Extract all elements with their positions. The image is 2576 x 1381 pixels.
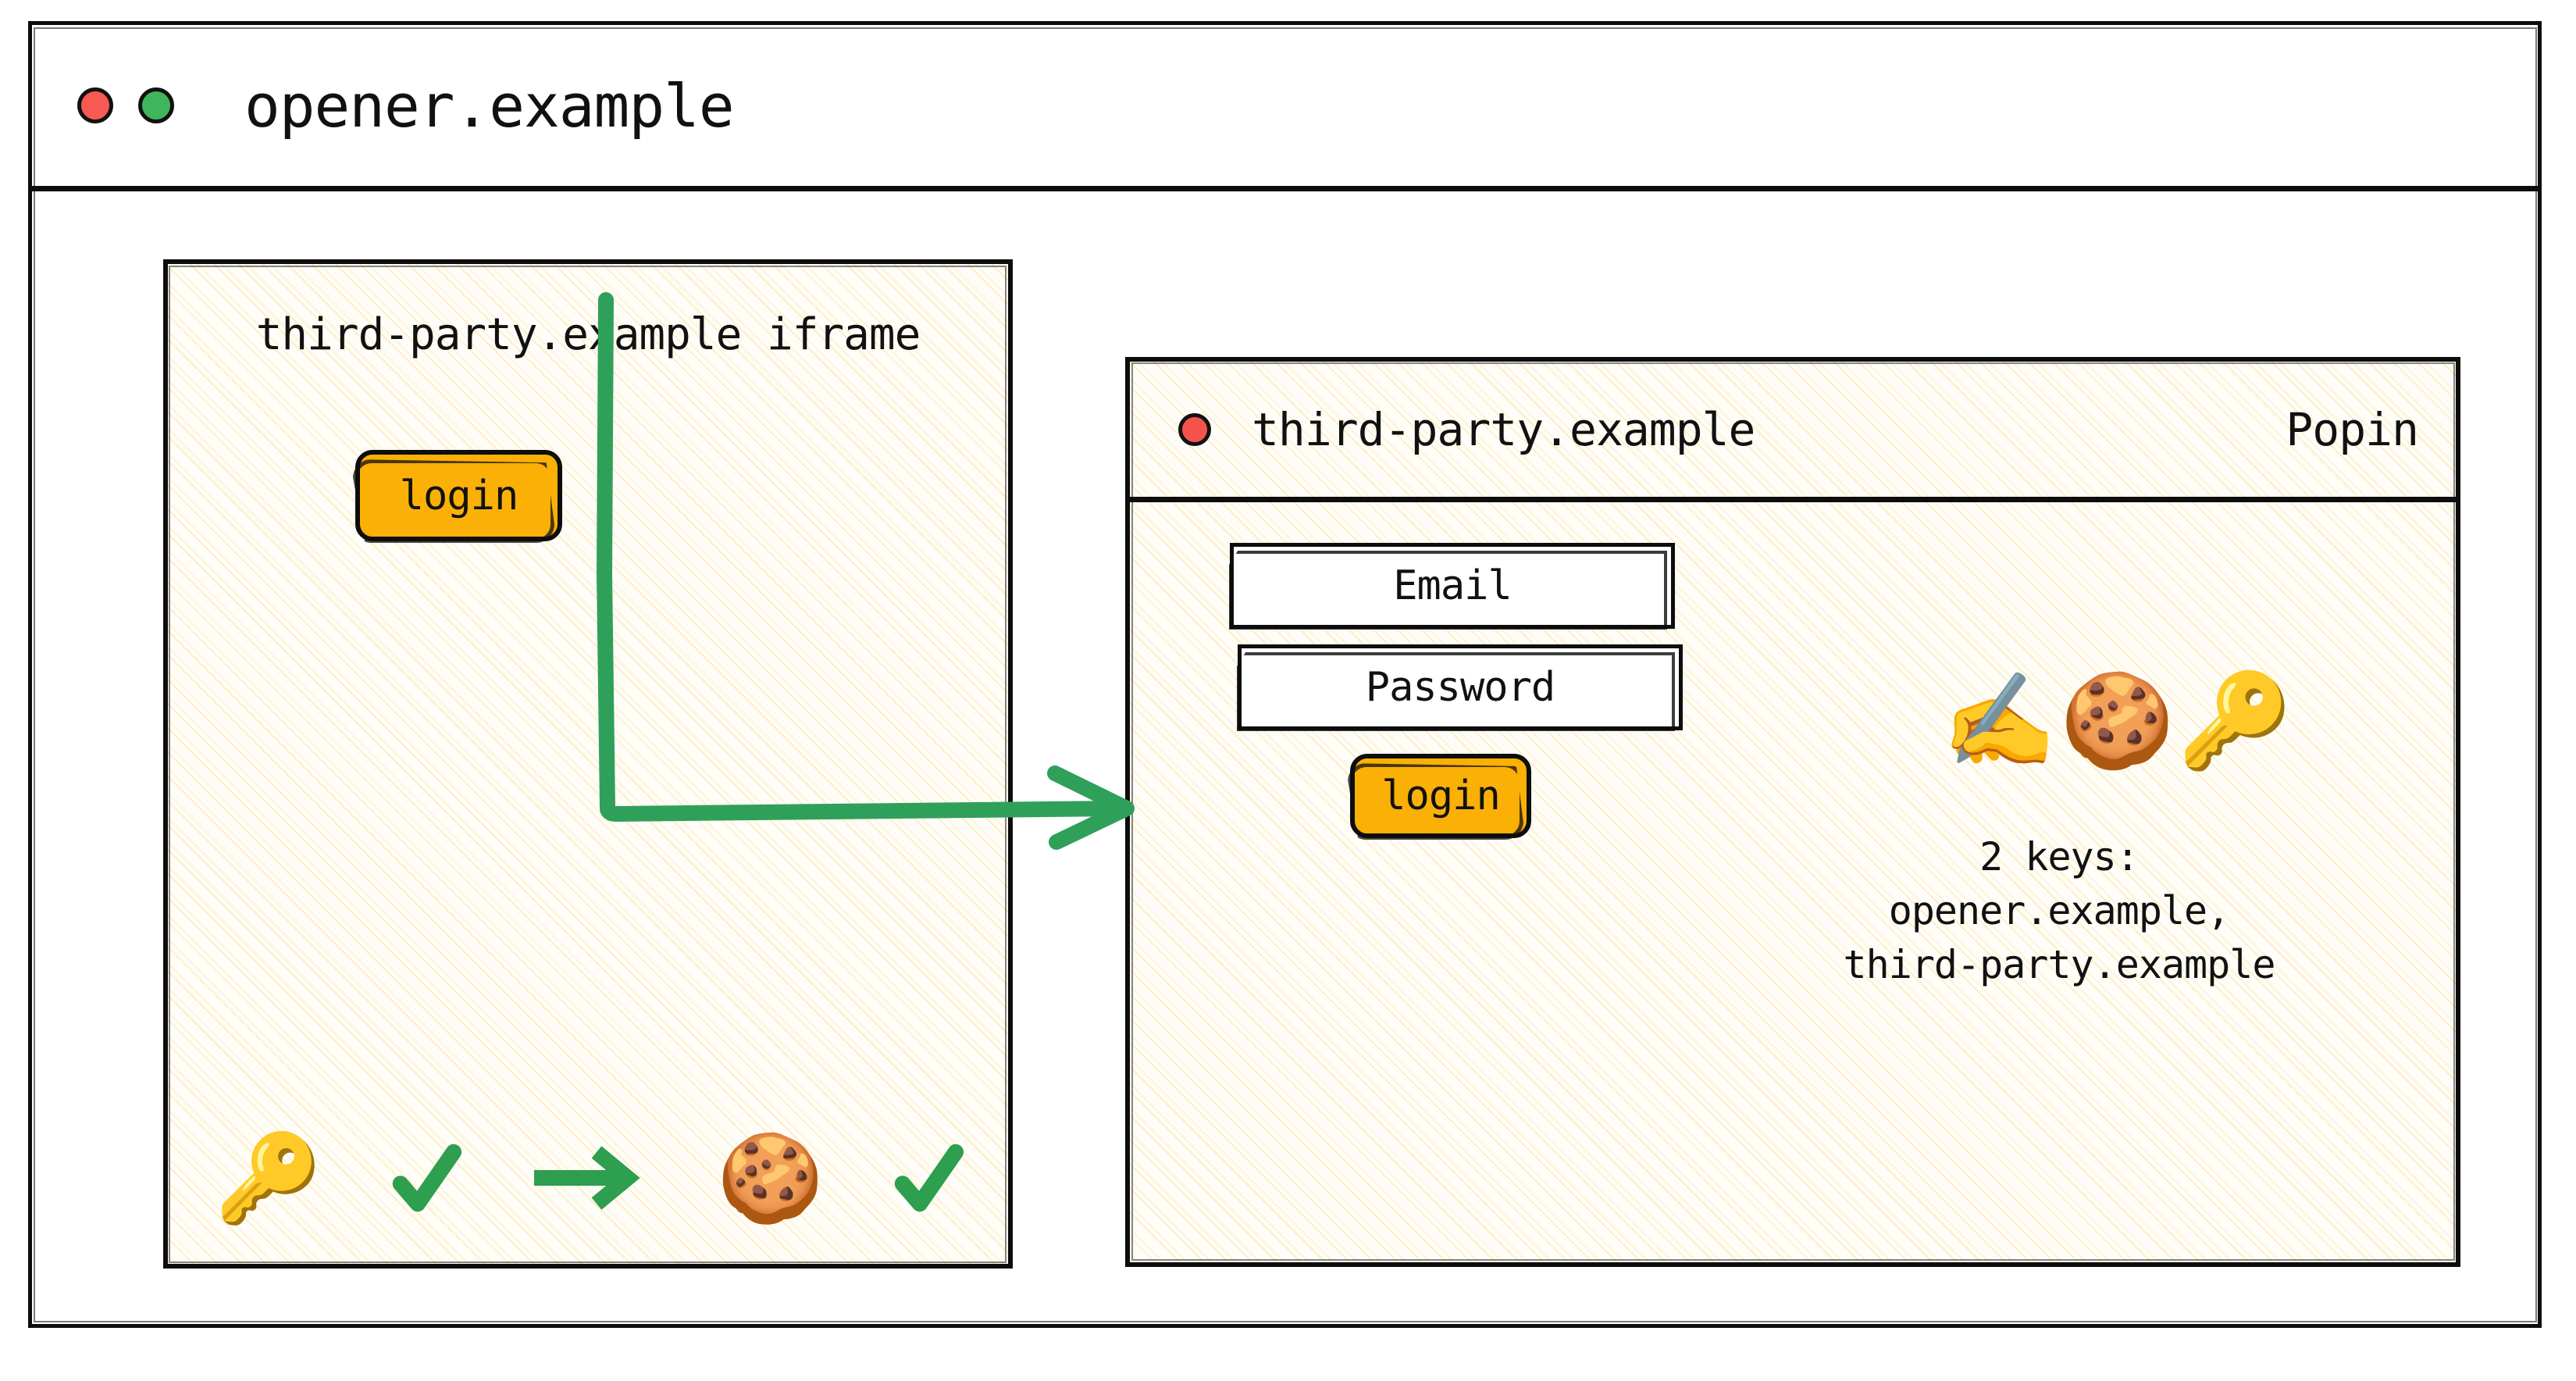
popup-close-dot[interactable] <box>1178 413 1211 446</box>
popup-login-button[interactable]: login <box>1350 754 1531 838</box>
iframe-login-button-label: login <box>400 473 518 519</box>
email-field-placeholder: Email <box>1393 562 1512 609</box>
writing-hand-icon: ✍️ <box>1942 674 2057 766</box>
iframe-login-button[interactable]: login <box>355 450 562 541</box>
popup-kind-label: Popin <box>2286 403 2418 456</box>
key-icon: 🔑 <box>2178 674 2293 766</box>
popup-icon-row: ✍️ 🍪 🔑 <box>1942 674 2293 766</box>
popup-title: third-party.example <box>1252 403 1755 456</box>
popup-titlebar: third-party.example Popin <box>1130 362 2456 502</box>
key-to-cookie-arrow-icon <box>531 1143 648 1213</box>
keys-note: 2 keys: opener.example, third-party.exam… <box>1723 830 2395 992</box>
email-field[interactable]: Email <box>1230 543 1675 629</box>
key-check-icon <box>390 1142 462 1214</box>
browser-window: opener.example third-party.example ifram… <box>28 21 2542 1328</box>
iframe-label: third-party.example iframe <box>168 309 1008 360</box>
key-icon: 🔑 <box>215 1135 322 1221</box>
cookie-icon: 🍪 <box>717 1135 824 1221</box>
iframe-status-row: 🔑 🍪 <box>215 1135 964 1221</box>
password-field-placeholder: Password <box>1366 664 1555 711</box>
cookie-check-icon <box>893 1142 964 1214</box>
close-dot[interactable] <box>77 87 113 123</box>
window-title: opener.example <box>244 71 734 141</box>
popup-window: third-party.example Popin Email Password… <box>1125 357 2460 1267</box>
browser-titlebar: opener.example <box>32 25 2538 191</box>
cookie-icon: 🍪 <box>2060 674 2175 766</box>
third-party-iframe-panel: third-party.example iframe login 🔑 🍪 <box>163 259 1013 1269</box>
password-field[interactable]: Password <box>1238 644 1683 730</box>
maximize-dot[interactable] <box>138 87 174 123</box>
popup-login-button-label: login <box>1381 773 1500 819</box>
